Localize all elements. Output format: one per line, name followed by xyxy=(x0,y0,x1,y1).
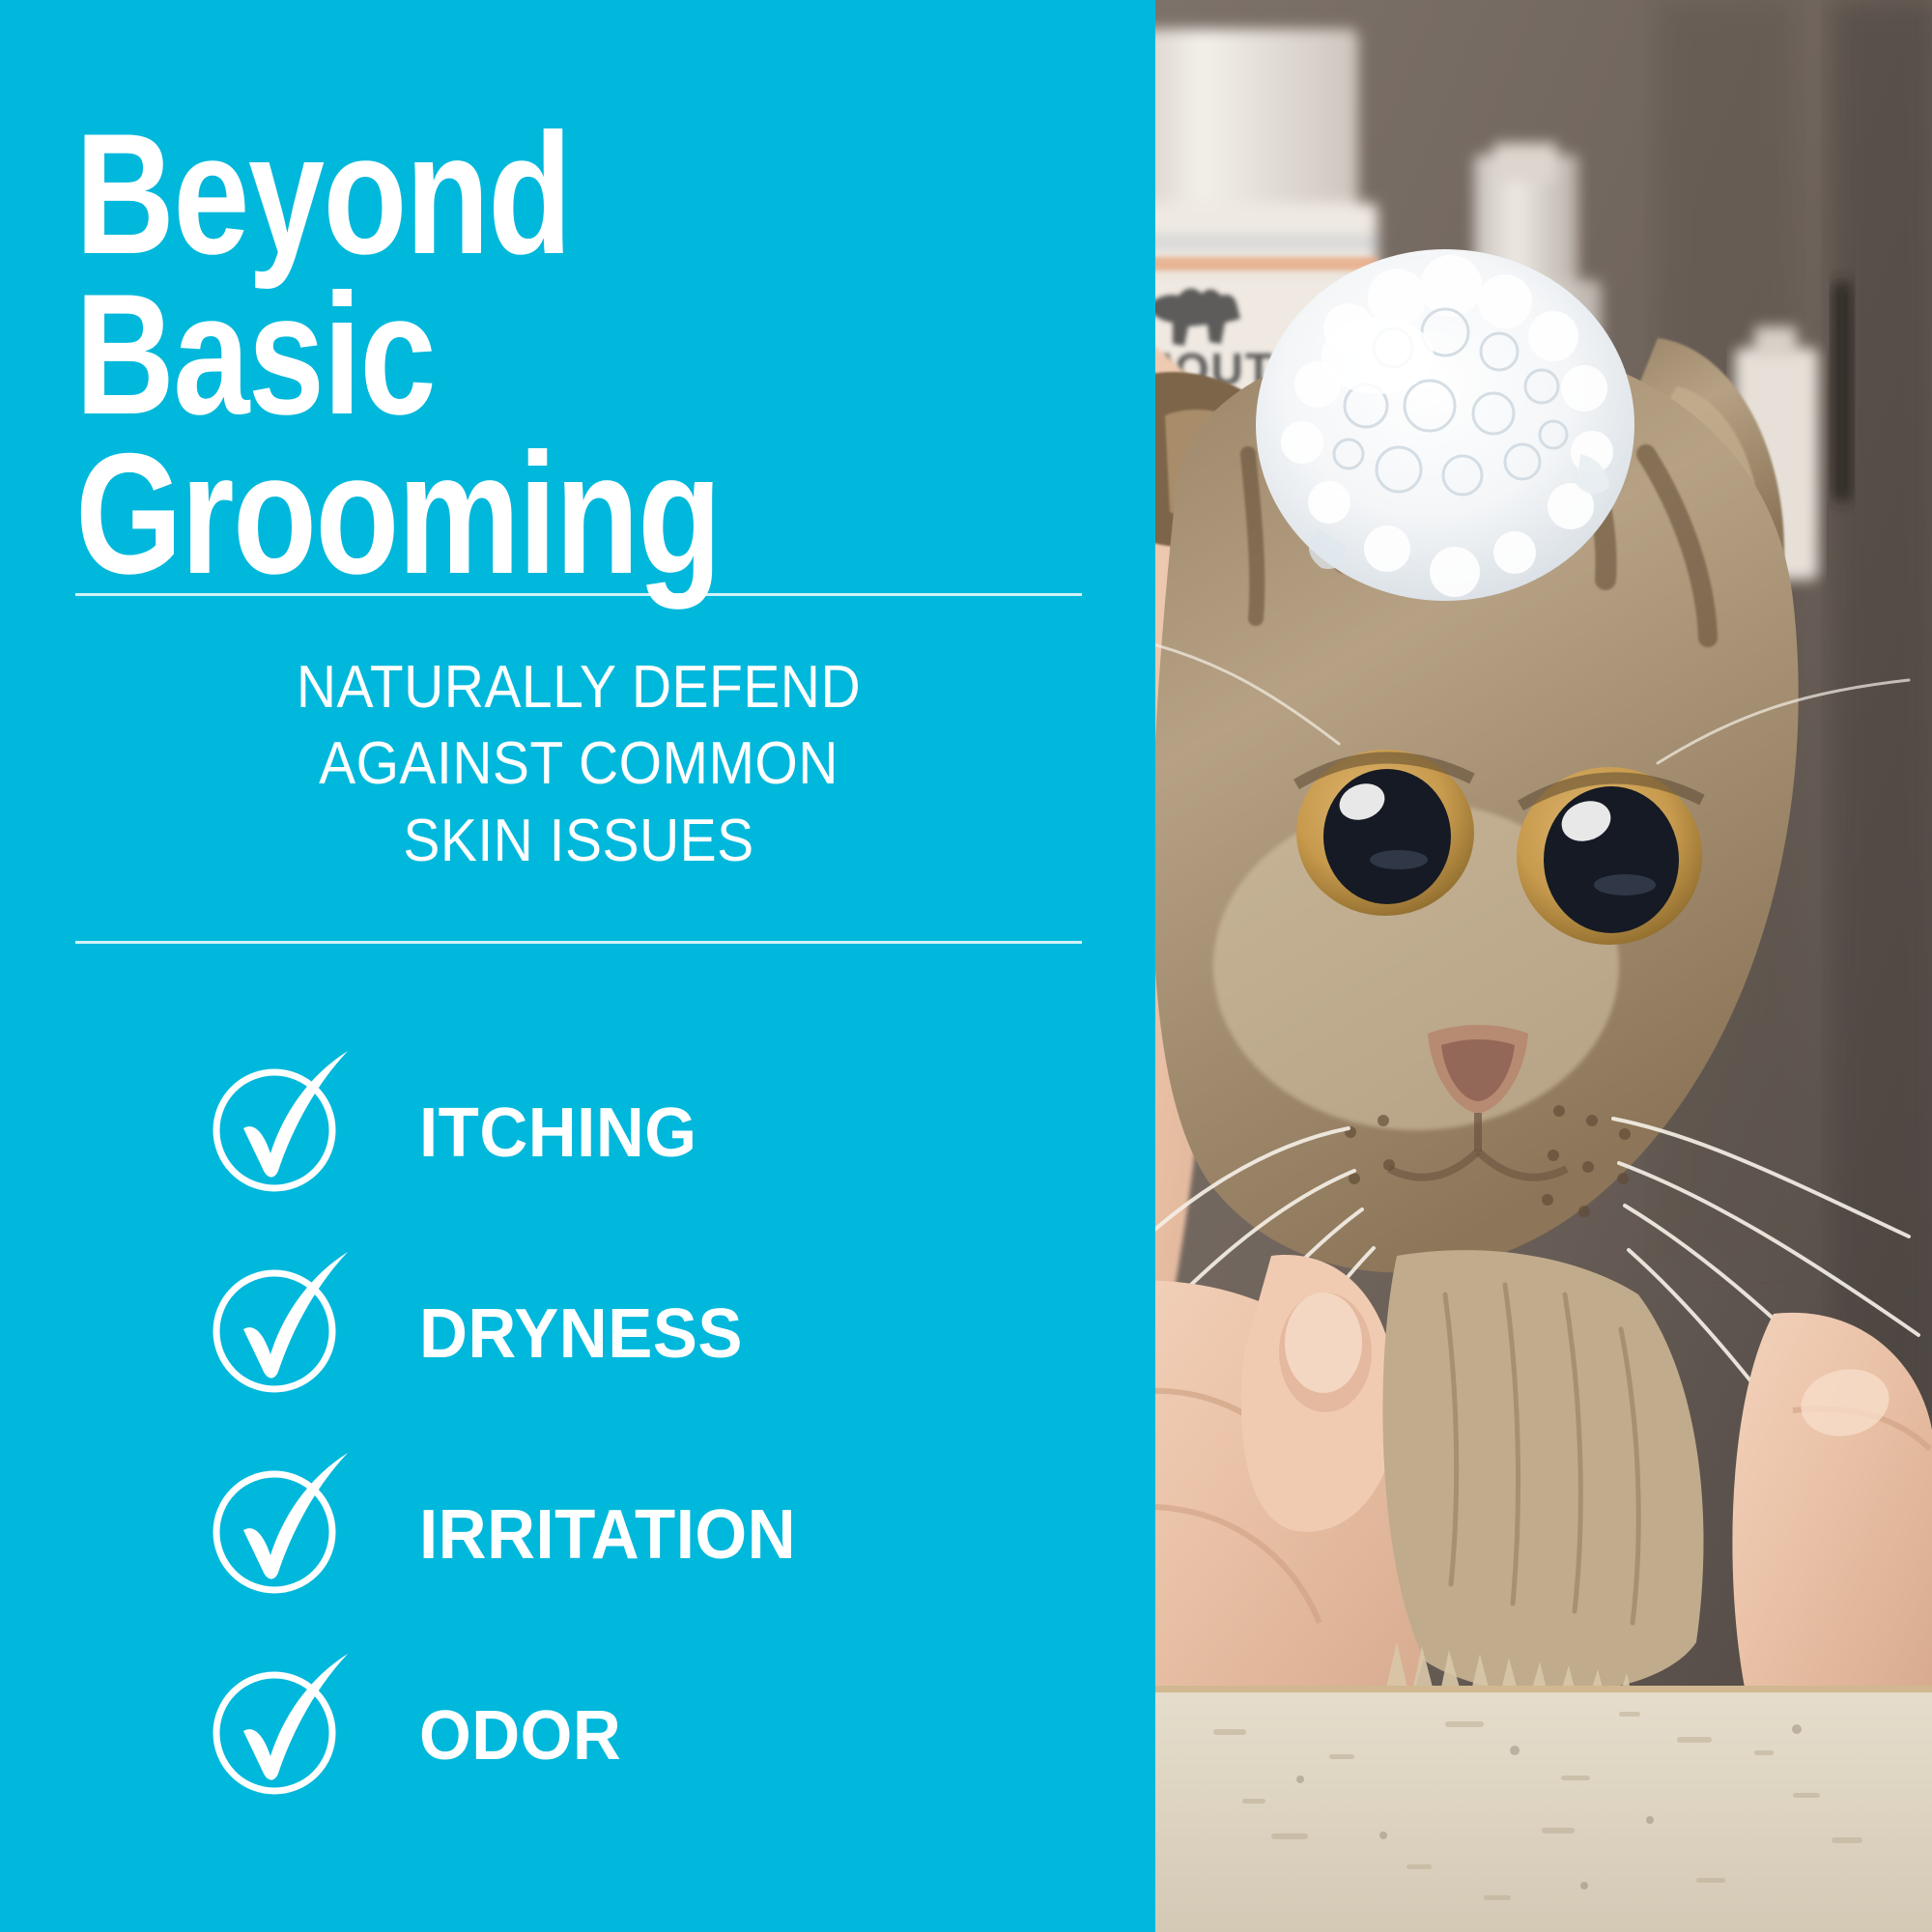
check-circle-icon xyxy=(207,1455,354,1602)
subheadline: NATURALLY DEFEND AGAINST COMMON SKIN ISS… xyxy=(116,649,1042,879)
benefit-list: ITCHING DRYNESS IRRITA xyxy=(224,1070,1094,1874)
benefit-item-odor: ODOR xyxy=(224,1673,1094,1799)
benefit-label: ODOR xyxy=(419,1696,621,1776)
check-circle-icon xyxy=(207,1053,354,1200)
benefit-label: DRYNESS xyxy=(419,1294,743,1374)
product-photo: SNOUTS HONOR xyxy=(1155,0,1932,1932)
headline: Beyond Basic Grooming xyxy=(75,114,895,594)
benefit-item-irritation: IRRITATION xyxy=(224,1472,1094,1598)
benefit-item-itching: ITCHING xyxy=(224,1070,1094,1196)
check-circle-icon xyxy=(207,1254,354,1401)
benefit-label: ITCHING xyxy=(419,1094,697,1173)
left-content-panel: Beyond Basic Grooming NATURALLY DEFEND A… xyxy=(0,0,1155,1932)
benefit-item-dryness: DRYNESS xyxy=(224,1271,1094,1397)
promo-graphic: Beyond Basic Grooming NATURALLY DEFEND A… xyxy=(0,0,1932,1932)
divider-top xyxy=(75,593,1082,596)
divider-bottom xyxy=(75,941,1082,944)
check-circle-icon xyxy=(207,1656,354,1803)
benefit-label: IRRITATION xyxy=(419,1495,796,1575)
